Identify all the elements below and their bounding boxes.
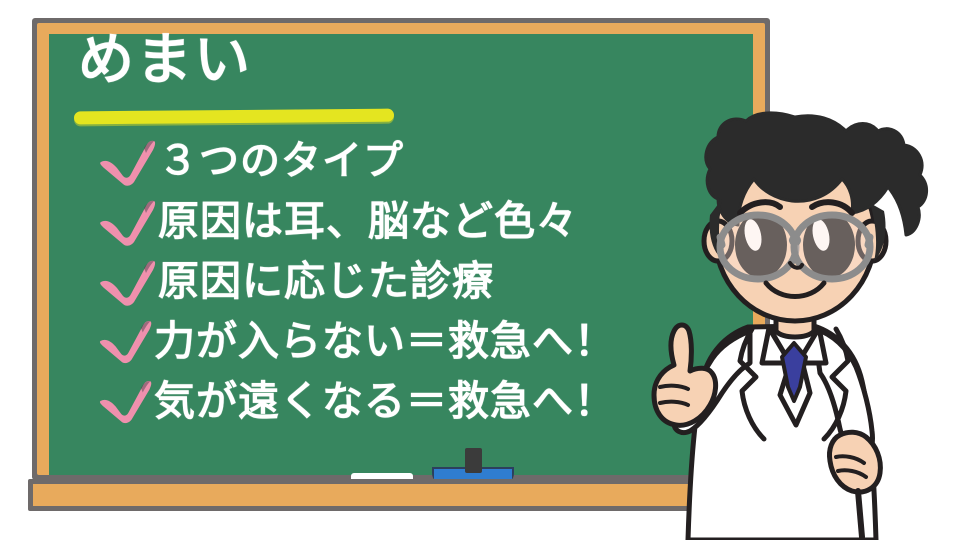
list-item: 原因に応じた診療 xyxy=(96,251,696,311)
list-item-label: 力が入らない＝救急へ！ xyxy=(154,321,616,362)
page-title: めまい xyxy=(78,33,252,89)
slide-canvas: めまい ３つのタイプ 原因は耳、脳など色々 xyxy=(0,0,960,540)
check-icon xyxy=(96,195,158,247)
check-icon xyxy=(96,315,154,367)
title-underline xyxy=(74,109,394,125)
check-icon xyxy=(96,255,158,307)
list-item: ３つのタイプ xyxy=(96,131,696,191)
check-icon xyxy=(96,135,158,187)
list-item-label: ３つのタイプ xyxy=(158,141,404,181)
doctor-illustration xyxy=(630,95,960,540)
checklist: ３つのタイプ 原因は耳、脳など色々 原因に応じた診療 xyxy=(96,131,696,431)
list-item-label: 原因に応じた診療 xyxy=(158,261,494,302)
eraser-knob xyxy=(465,448,482,473)
list-item-label: 気が遠くなる＝救急へ！ xyxy=(154,381,616,422)
list-item-label: 原因は耳、脳など色々 xyxy=(158,201,578,242)
list-item: 力が入らない＝救急へ！ xyxy=(96,311,696,371)
list-item: 原因は耳、脳など色々 xyxy=(96,191,696,251)
list-item: 気が遠くなる＝救急へ！ xyxy=(96,371,696,431)
check-icon xyxy=(96,375,154,427)
